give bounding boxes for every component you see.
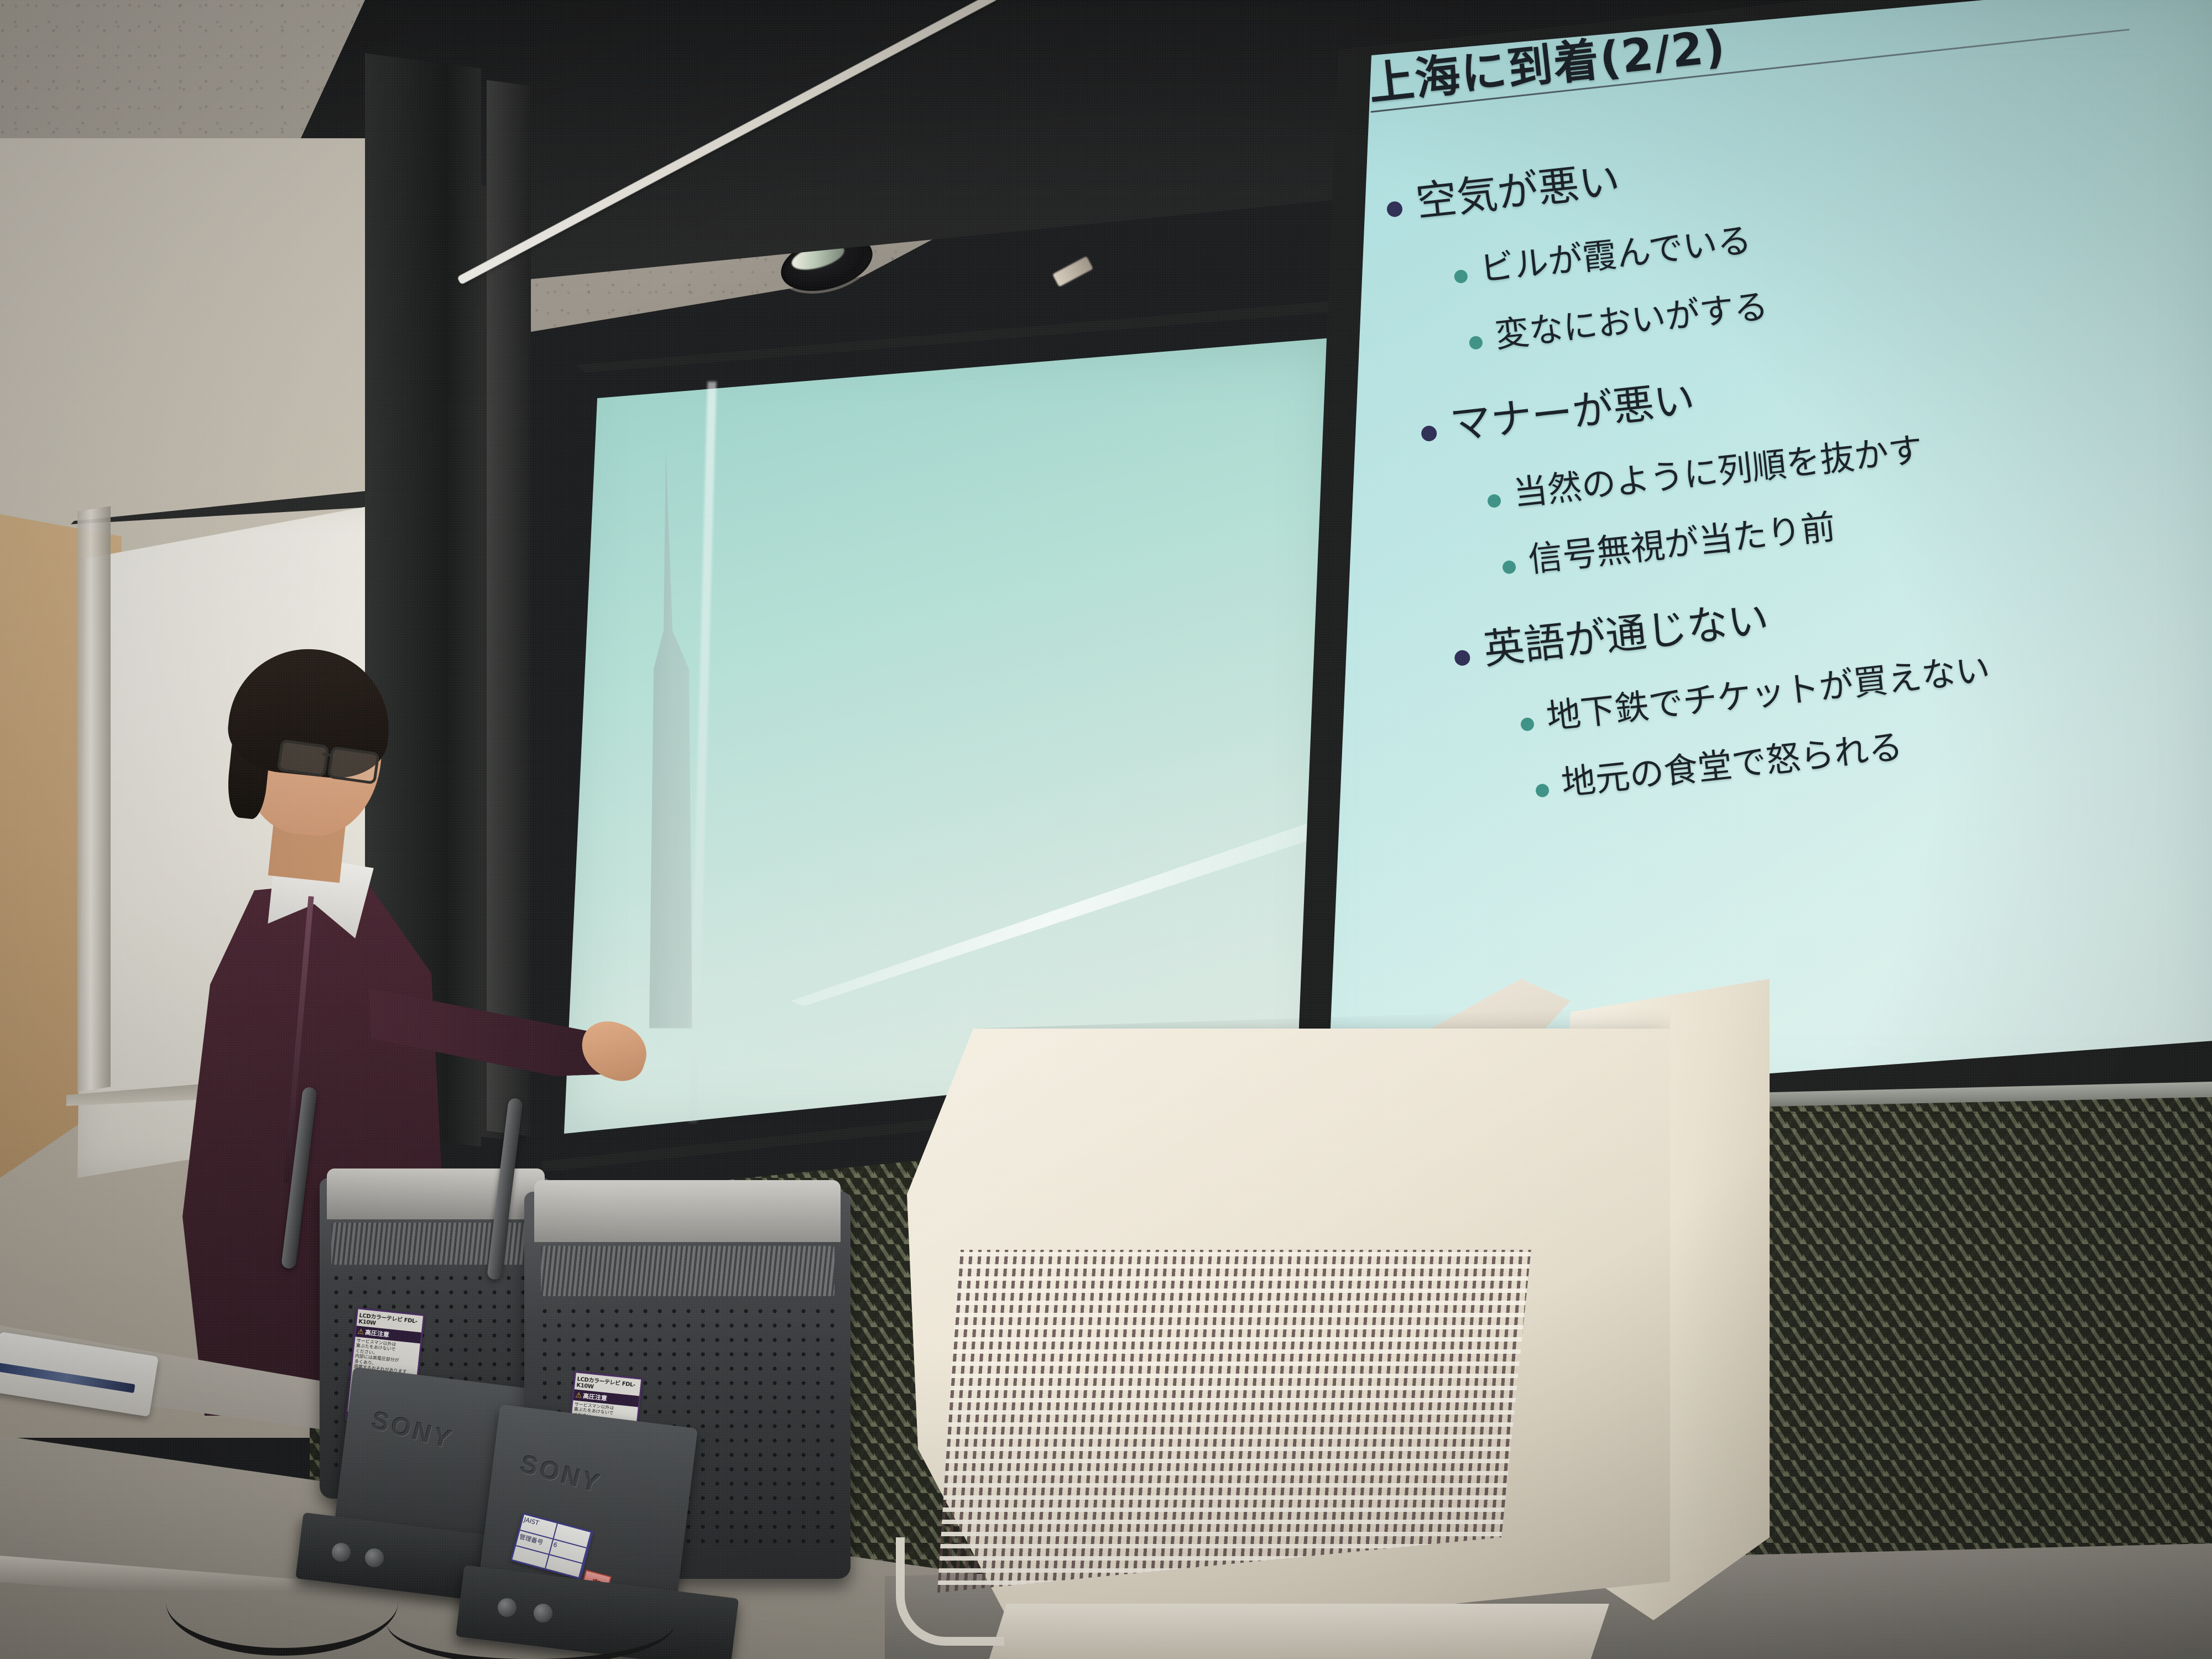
sony-logo-right: SONY [518,1448,606,1499]
device-button-strip[interactable] [0,1363,135,1393]
lcd-vent-slots [541,1246,834,1296]
crt-monitor[interactable] [907,962,1803,1659]
whiteboard-roller [77,506,111,1092]
lcd-top-bezel [534,1180,841,1242]
main-projection-screen [1288,0,2212,1106]
sony-logo-left: SONY [369,1405,457,1455]
high-voltage-icon: ⚠ [575,1391,582,1400]
pointer-stick-tip [1052,256,1093,287]
floor-cable-2 [387,1582,675,1659]
high-voltage-icon: ⚠ [357,1327,364,1336]
floor-cable [166,1548,398,1656]
lcd-vent-slots [331,1223,540,1264]
crt-cable [896,1537,1004,1646]
crt-base [957,1604,1620,1659]
lcd-connector-left-2[interactable] [365,1548,384,1567]
asset-tag: JAIST 管理番号 6 [510,1512,593,1579]
lecture-room-photo: 上海に到着(2/2) 空気が悪い ビルが霞んでいる 変なにおいがする マナーが悪… [0,0,2212,1659]
crt-ventilation-ribs [937,1250,1535,1593]
